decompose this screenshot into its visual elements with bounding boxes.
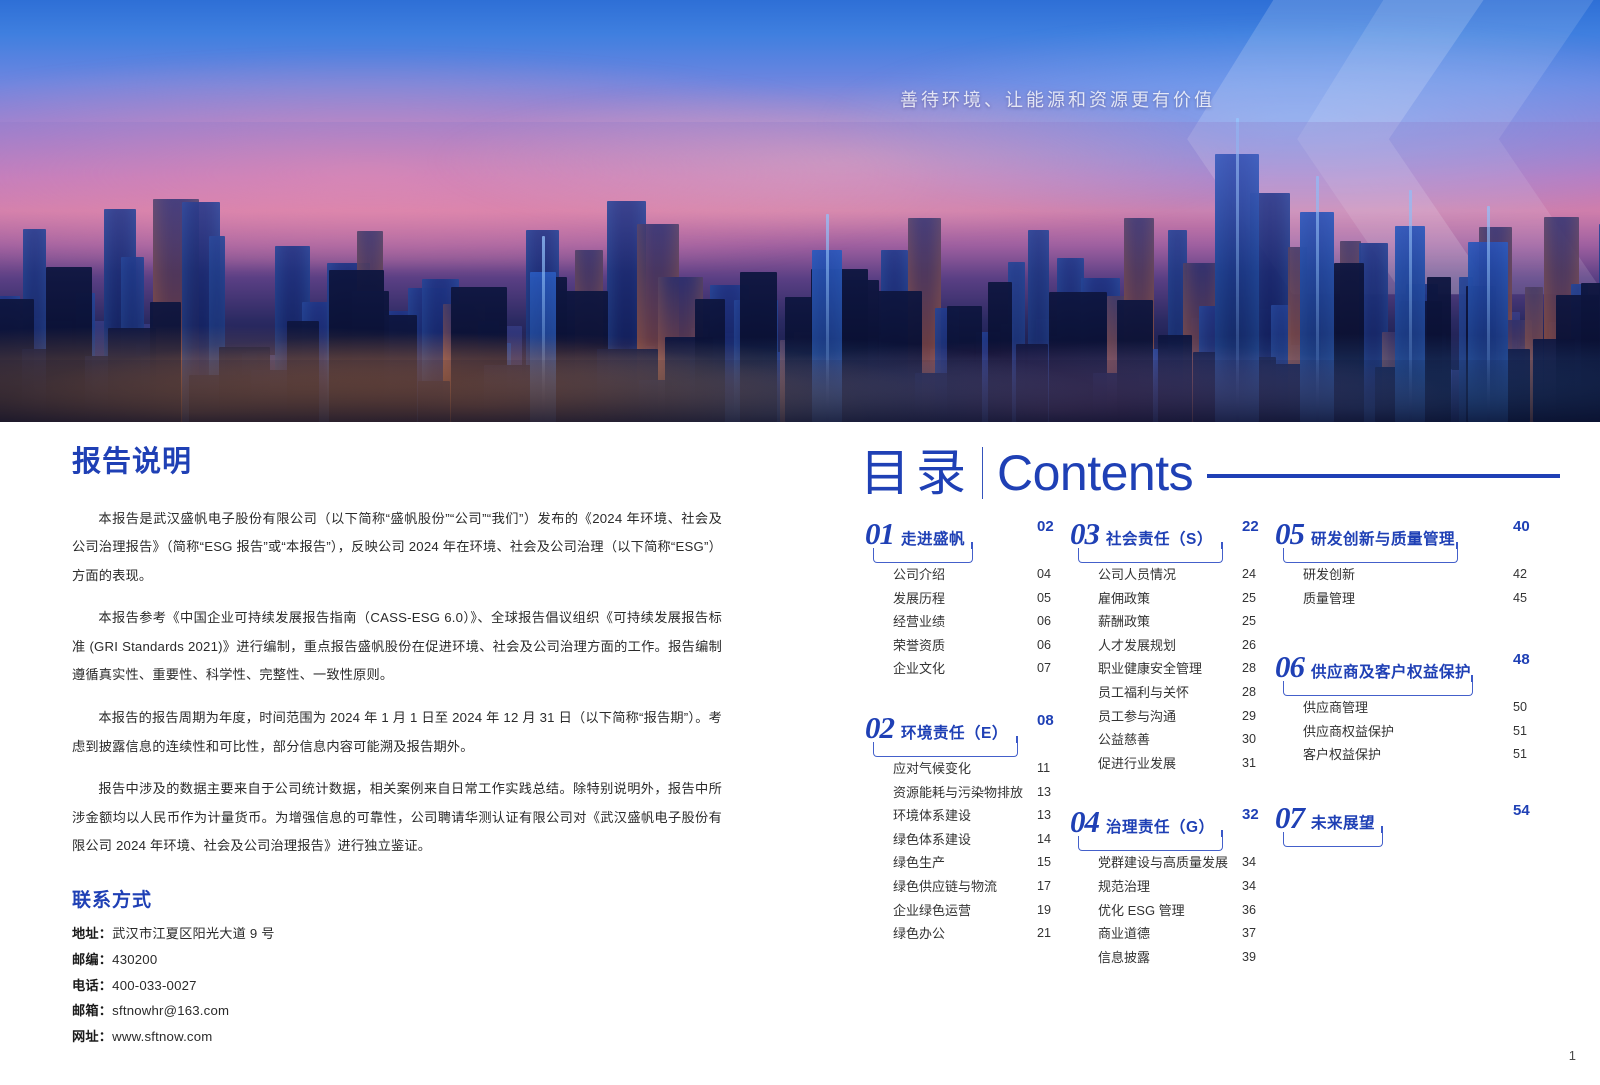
toc-item-list: 研发创新42质量管理45 [1275, 568, 1565, 615]
toc-item-page: 05 [1037, 592, 1051, 605]
toc-item-page: 39 [1242, 951, 1256, 964]
toc-bracket-decoration [1283, 681, 1473, 696]
contact-value: 武汉市江夏区阳光大道 9 号 [112, 926, 275, 941]
toc-group-label: 供应商及客户权益保护 [1311, 660, 1471, 682]
toc-item-label: 员工福利与关怀 [1098, 685, 1189, 700]
toc-item-page: 45 [1513, 592, 1527, 605]
toc-group-number: 04 [1070, 806, 1099, 837]
report-note-paragraph: 本报告参考《中国企业可持续发展报告指南（CASS-ESG 6.0）》、全球报告倡… [72, 604, 722, 690]
toc-item-page: 21 [1037, 927, 1051, 940]
contact-row: 地址：武汉市江夏区阳光大道 9 号 [72, 921, 722, 947]
toc-bracket-tick [1456, 542, 1458, 549]
toc-item-label: 供应商管理 [1303, 700, 1368, 715]
toc-item[interactable]: 信息披露39 [1070, 951, 1270, 975]
contact-label: 网址： [72, 1029, 112, 1044]
toc-bracket-tick [1471, 675, 1473, 682]
toc-item-label: 研发创新 [1303, 567, 1355, 582]
contact-row: 网址：www.sftnow.com [72, 1024, 722, 1050]
toc-item[interactable]: 党群建设与高质量发展34 [1070, 856, 1270, 880]
toc-bracket-decoration [1283, 832, 1383, 847]
toc-group-page: 08 [1037, 712, 1054, 729]
toc-item[interactable]: 公司介绍04 [865, 568, 1065, 592]
toc-group[interactable]: 03社会责任（S）22公司人员情况24雇佣政策25薪酬政策25人才发展规划26职… [1070, 518, 1270, 780]
contact-row: 电话：400-033-0027 [72, 973, 722, 999]
toc-group-number: 05 [1275, 518, 1304, 549]
toc-item[interactable]: 人才发展规划26 [1070, 639, 1270, 663]
toc-item-label: 公司人员情况 [1098, 567, 1176, 582]
toc-group-page: 02 [1037, 518, 1054, 535]
toc-item-page: 24 [1242, 568, 1256, 581]
toc-group-number: 07 [1275, 802, 1304, 833]
toc-column-2: 03社会责任（S）22公司人员情况24雇佣政策25薪酬政策25人才发展规划26职… [1070, 518, 1270, 992]
toc-item[interactable]: 员工福利与关怀28 [1070, 686, 1270, 710]
toc-item-page: 14 [1037, 833, 1051, 846]
toc-item-page: 17 [1037, 880, 1051, 893]
toc-item[interactable]: 研发创新42 [1275, 568, 1565, 592]
toc-group-header[interactable]: 06供应商及客户权益保护48 [1275, 651, 1565, 685]
city-skyline [0, 92, 1600, 422]
toc-group[interactable]: 04治理责任（G）32党群建设与高质量发展34规范治理34优化 ESG 管理36… [1070, 806, 1270, 974]
contact-label: 地址： [72, 926, 112, 941]
toc-group-page: 40 [1513, 518, 1530, 535]
toc-item-label: 企业绿色运营 [893, 903, 971, 918]
toc-item-page: 19 [1037, 904, 1051, 917]
toc-group-page: 32 [1242, 806, 1259, 823]
toc-item[interactable]: 绿色办公21 [865, 927, 1065, 951]
toc-item[interactable]: 企业绿色运营19 [865, 904, 1065, 928]
toc-item-label: 绿色体系建设 [893, 832, 971, 847]
toc-item-label: 质量管理 [1303, 591, 1355, 606]
toc-item[interactable]: 薪酬政策25 [1070, 615, 1270, 639]
toc-item-label: 环境体系建设 [893, 808, 971, 823]
toc-item[interactable]: 应对气候变化11 [865, 762, 1065, 786]
toc-item-list: 公司人员情况24雇佣政策25薪酬政策25人才发展规划26职业健康安全管理28员工… [1070, 568, 1270, 780]
toc-item-page: 26 [1242, 639, 1256, 652]
toc-group-header[interactable]: 03社会责任（S）22 [1070, 518, 1270, 552]
toc-item-page: 50 [1513, 701, 1527, 714]
toc-item[interactable]: 环境体系建设13 [865, 809, 1065, 833]
toc-group-label: 研发创新与质量管理 [1311, 527, 1455, 549]
toc-item-page: 42 [1513, 568, 1527, 581]
toc-bracket-tick [971, 542, 973, 549]
toc-item-label: 发展历程 [893, 591, 945, 606]
toc-item-page: 36 [1242, 904, 1256, 917]
toc-item-label: 薪酬政策 [1098, 614, 1150, 629]
toc-title-divider [982, 447, 983, 499]
toc-item[interactable]: 雇佣政策25 [1070, 592, 1270, 616]
toc-item-page: 30 [1242, 733, 1256, 746]
contact-title: 联系方式 [72, 891, 722, 912]
toc-item-list: 党群建设与高质量发展34规范治理34优化 ESG 管理36商业道德37信息披露3… [1070, 856, 1270, 974]
contact-value: www.sftnow.com [112, 1029, 212, 1044]
toc-item-list: 公司介绍04发展历程05经营业绩06荣誉资质06企业文化07 [865, 568, 1065, 686]
toc-item[interactable]: 质量管理45 [1275, 592, 1565, 616]
toc-bracket-tick [1381, 826, 1383, 833]
toc-item-page: 13 [1037, 809, 1051, 822]
toc-group-label: 走进盛帆 [901, 527, 965, 549]
toc-item-page: 34 [1242, 856, 1256, 869]
toc-group-page: 22 [1242, 518, 1259, 535]
contact-label: 邮编： [72, 952, 112, 967]
toc-item-label: 企业文化 [893, 661, 945, 676]
toc-item-page: 25 [1242, 615, 1256, 628]
toc-item-label: 员工参与沟通 [1098, 709, 1176, 724]
toc-item[interactable]: 供应商权益保护51 [1275, 725, 1565, 749]
toc-item[interactable]: 员工参与沟通29 [1070, 710, 1270, 734]
toc-item[interactable]: 经营业绩06 [865, 615, 1065, 639]
toc-item-page: 07 [1037, 662, 1051, 675]
toc-item[interactable]: 规范治理34 [1070, 880, 1270, 904]
hero-tagline: 善待环境、让能源和资源更有价值 [900, 86, 1215, 112]
toc-group-number: 06 [1275, 651, 1304, 682]
toc-item[interactable]: 优化 ESG 管理36 [1070, 904, 1270, 928]
cover-hero-image: 善待环境、让能源和资源更有价值 [0, 0, 1600, 422]
toc-item-page: 04 [1037, 568, 1051, 581]
toc-item-page: 15 [1037, 856, 1051, 869]
toc-bracket-decoration [1283, 548, 1458, 563]
toc-item[interactable]: 企业文化07 [865, 662, 1065, 686]
toc-bracket-decoration [873, 742, 1018, 757]
toc-group-number: 01 [865, 518, 894, 549]
table-of-contents: 目录 Contents 01走进盛帆02公司介绍04发展历程05经营业绩06荣誉… [860, 440, 1560, 506]
toc-bracket-decoration [1078, 836, 1223, 851]
contact-label: 电话： [72, 978, 112, 993]
report-note-section: 报告说明 本报告是武汉盛帆电子股份有限公司（以下简称“盛帆股份”“公司”“我们”… [72, 447, 722, 1050]
toc-group[interactable]: 01走进盛帆02公司介绍04发展历程05经营业绩06荣誉资质06企业文化07 [865, 518, 1065, 686]
toc-item[interactable]: 促进行业发展31 [1070, 757, 1270, 781]
toc-item[interactable]: 客户权益保护51 [1275, 748, 1565, 772]
report-note-paragraph: 报告中涉及的数据主要来自于公司统计数据，相关案例来自日常工作实践总结。除特别说明… [72, 775, 722, 861]
toc-item[interactable]: 公益慈善30 [1070, 733, 1270, 757]
toc-title-en: Contents [997, 448, 1193, 498]
toc-column-3: 05研发创新与质量管理40研发创新42质量管理4506供应商及客户权益保护48供… [1275, 518, 1565, 854]
toc-item[interactable]: 绿色供应链与物流17 [865, 880, 1065, 904]
toc-title-zh: 目录 [860, 448, 972, 498]
toc-group[interactable]: 06供应商及客户权益保护48供应商管理50供应商权益保护51客户权益保护51 [1275, 651, 1565, 772]
toc-bracket-decoration [1078, 548, 1223, 563]
toc-bracket-decoration [873, 548, 973, 563]
toc-group-label: 治理责任（G） [1106, 815, 1215, 837]
toc-group-header[interactable]: 01走进盛帆02 [865, 518, 1065, 552]
toc-item[interactable]: 资源能耗与污染物排放13 [865, 786, 1065, 810]
contact-list: 地址：武汉市江夏区阳光大道 9 号邮编：430200电话：400-033-002… [72, 921, 722, 1049]
toc-item-page: 11 [1037, 762, 1050, 775]
toc-item-page: 51 [1513, 748, 1527, 761]
toc-item-page: 29 [1242, 710, 1256, 723]
toc-item-list: 供应商管理50供应商权益保护51客户权益保护51 [1275, 701, 1565, 772]
toc-item-label: 公益慈善 [1098, 732, 1150, 747]
toc-item[interactable]: 商业道德37 [1070, 927, 1270, 951]
toc-item-label: 绿色供应链与物流 [893, 879, 997, 894]
toc-item-label: 应对气候变化 [893, 761, 971, 776]
page-number: 1 [1569, 1048, 1576, 1063]
toc-bracket-tick [1221, 542, 1223, 549]
toc-item-page: 34 [1242, 880, 1256, 893]
toc-item-label: 公司介绍 [893, 567, 945, 582]
toc-item-page: 13 [1037, 786, 1051, 799]
toc-bracket-tick [1221, 830, 1223, 837]
toc-item[interactable]: 公司人员情况24 [1070, 568, 1270, 592]
contact-value: 400-033-0027 [112, 978, 197, 993]
toc-item-page: 31 [1242, 757, 1256, 770]
toc-item[interactable]: 绿色生产15 [865, 856, 1065, 880]
toc-group[interactable]: 07未来展望54 [1275, 802, 1565, 836]
toc-item-label: 信息披露 [1098, 950, 1150, 965]
toc-item-page: 51 [1513, 725, 1527, 738]
toc-group[interactable]: 05研发创新与质量管理40研发创新42质量管理45 [1275, 518, 1565, 615]
toc-item-label: 规范治理 [1098, 879, 1150, 894]
contact-label: 邮箱： [72, 1003, 112, 1018]
contact-value: 430200 [112, 952, 157, 967]
toc-item-page: 25 [1242, 592, 1256, 605]
toc-item-label: 促进行业发展 [1098, 756, 1176, 771]
toc-group-page: 54 [1513, 802, 1530, 819]
toc-item-label: 职业健康安全管理 [1098, 661, 1202, 676]
toc-item-label: 客户权益保护 [1303, 747, 1381, 762]
report-note-title: 报告说明 [72, 447, 722, 479]
toc-group-header[interactable]: 04治理责任（G）32 [1070, 806, 1270, 840]
toc-item-page: 28 [1242, 686, 1256, 699]
toc-group-label: 社会责任（S） [1106, 527, 1213, 549]
contact-row: 邮编：430200 [72, 947, 722, 973]
report-note-paragraph: 本报告的报告周期为年度，时间范围为 2024 年 1 月 1 日至 2024 年… [72, 704, 722, 761]
toc-item[interactable]: 荣誉资质06 [865, 639, 1065, 663]
toc-heading: 目录 Contents [860, 440, 1560, 506]
toc-item[interactable]: 供应商管理50 [1275, 701, 1565, 725]
toc-item[interactable]: 发展历程05 [865, 592, 1065, 616]
toc-item-label: 绿色生产 [893, 855, 945, 870]
toc-item-label: 人才发展规划 [1098, 638, 1176, 653]
toc-item-label: 荣誉资质 [893, 638, 945, 653]
toc-group-header[interactable]: 07未来展望54 [1275, 802, 1565, 836]
toc-group-header[interactable]: 02环境责任（E）08 [865, 712, 1065, 746]
toc-heading-rule [1207, 474, 1560, 478]
contact-value: sftnowhr@163.com [112, 1003, 229, 1018]
toc-item-label: 资源能耗与污染物排放 [893, 785, 1023, 800]
toc-item-label: 绿色办公 [893, 926, 945, 941]
toc-column-1: 01走进盛帆02公司介绍04发展历程05经营业绩06荣誉资质06企业文化0702… [865, 518, 1065, 969]
toc-item[interactable]: 绿色体系建设14 [865, 833, 1065, 857]
toc-item-label: 优化 ESG 管理 [1098, 903, 1185, 918]
toc-bracket-tick [1016, 736, 1018, 743]
toc-item-label: 雇佣政策 [1098, 591, 1150, 606]
toc-group-label: 环境责任（E） [901, 721, 1008, 743]
toc-item-label: 商业道德 [1098, 926, 1150, 941]
toc-group-header[interactable]: 05研发创新与质量管理40 [1275, 518, 1565, 552]
toc-item-label: 供应商权益保护 [1303, 724, 1394, 739]
toc-item-page: 06 [1037, 639, 1051, 652]
toc-item-page: 28 [1242, 662, 1256, 675]
toc-item-page: 06 [1037, 615, 1051, 628]
contact-row: 邮箱：sftnowhr@163.com [72, 998, 722, 1024]
report-note-paragraph: 本报告是武汉盛帆电子股份有限公司（以下简称“盛帆股份”“公司”“我们”）发布的《… [72, 505, 722, 591]
toc-group[interactable]: 02环境责任（E）08应对气候变化11资源能耗与污染物排放13环境体系建设13绿… [865, 712, 1065, 951]
toc-item-page: 37 [1242, 927, 1256, 940]
toc-item-label: 经营业绩 [893, 614, 945, 629]
toc-item-label: 党群建设与高质量发展 [1098, 855, 1228, 870]
toc-group-page: 48 [1513, 651, 1530, 668]
toc-group-number: 02 [865, 712, 894, 743]
toc-item-list: 应对气候变化11资源能耗与污染物排放13环境体系建设13绿色体系建设14绿色生产… [865, 762, 1065, 951]
toc-group-number: 03 [1070, 518, 1099, 549]
toc-group-label: 未来展望 [1311, 811, 1375, 833]
toc-item[interactable]: 职业健康安全管理28 [1070, 662, 1270, 686]
